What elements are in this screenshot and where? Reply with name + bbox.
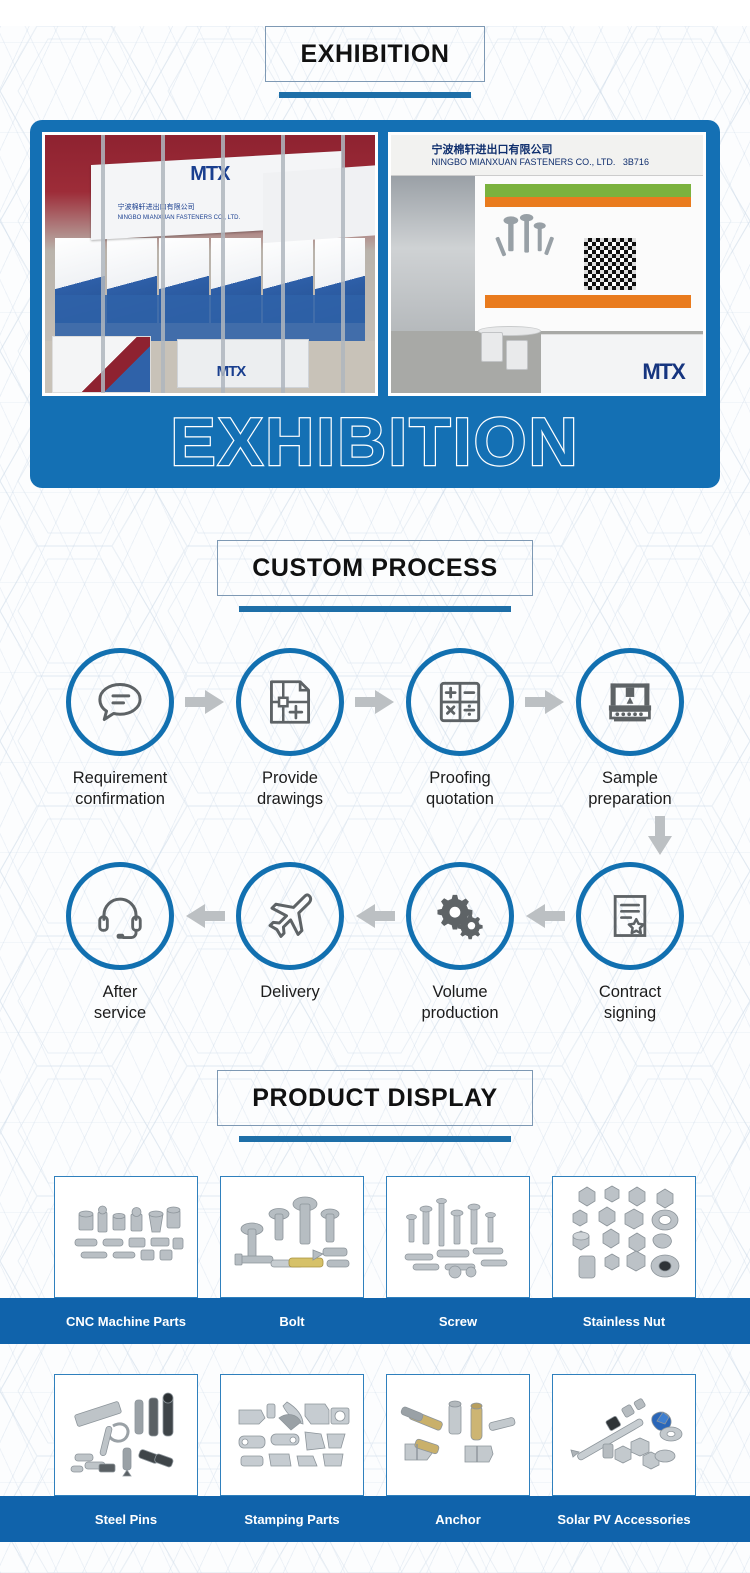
process-arrow-2 [352,648,398,756]
product-card-cnc-machine-parts[interactable]: CNC Machine Parts [54,1176,198,1344]
product-image-frame [386,1374,530,1496]
product-image-frame [54,1176,198,1298]
product-card-anchor[interactable]: Anchor [386,1374,530,1542]
step-label: Sample preparation [588,768,671,810]
stainless-nut-photo [559,1184,689,1290]
page-title: EXHIBITION [300,40,449,69]
exhibition-booth-photo-1[interactable]: MTX 宁波棉轩进出口有限公司 NINGBO MIANXUAN FASTENER… [42,132,378,396]
step-circle [236,648,344,756]
product-image-frame [552,1176,696,1298]
process-step-requirement-confirmation[interactable]: Requirement confirmation [58,648,182,810]
process-step-proofing-quotation[interactable]: Proofing quotation [398,648,522,810]
photo1-booth-framework [45,135,375,393]
product-image-frame [552,1374,696,1496]
process-step-volume-production[interactable]: Volume production [398,862,522,1024]
product-card-steel-pins[interactable]: Steel Pins [54,1374,198,1542]
photo2-qr-code [584,238,636,290]
product-label: Stainless Nut [552,1298,696,1344]
photo2-company-en: NINGBO MIANXUAN FASTENERS CO., LTD. 3B71… [432,157,649,167]
photo2-orange-stripe-2 [485,295,691,308]
section-title: CUSTOM PROCESS [252,554,497,583]
arrow-left-icon [355,903,395,929]
airplane-icon [262,888,318,944]
product-row-1-tiles: CNC Machine Parts [0,1176,750,1344]
exhibition-photo-gallery: MTX 宁波棉轩进出口有限公司 NINGBO MIANXUAN FASTENER… [42,132,708,396]
bolt-photo [227,1184,357,1290]
process-step-after-service[interactable]: After service [58,862,182,1024]
exhibition-section-heading: EXHIBITION [0,26,750,98]
heading-box: PRODUCT DISPLAY [217,1070,533,1126]
step-label: Delivery [260,982,320,1003]
product-image-frame [220,1176,364,1298]
step-label: Proofing quotation [426,768,494,810]
process-arrow-5 [352,862,398,970]
product-label: Stamping Parts [220,1496,364,1542]
product-row-2-tiles: Steel Pins [0,1374,750,1542]
arrow-left-icon [185,903,225,929]
step-circle [576,862,684,970]
exhibition-banner-title: EXHIBITION [42,396,708,488]
product-card-bolt[interactable]: Bolt [220,1176,364,1344]
process-arrow-4 [182,862,228,970]
heading-rule [239,606,511,612]
product-card-solar-pv-accessories[interactable]: Solar PV Accessories [552,1374,696,1542]
process-step-sample-preparation[interactable]: Sample preparation [568,648,692,810]
product-display-grid: CNC Machine Parts [0,1176,750,1542]
product-card-stainless-nut[interactable]: Stainless Nut [552,1176,696,1344]
screw-photo [393,1184,523,1290]
arrow-right-icon [185,689,225,715]
calculator-icon [434,676,486,728]
heading-box: CUSTOM PROCESS [217,540,532,596]
photo2-bolt-poster-art [494,207,563,274]
product-card-stamping-parts[interactable]: Stamping Parts [220,1374,364,1542]
cnc-machine-icon [602,675,658,729]
arrow-right-icon [525,689,565,715]
step-circle [66,862,174,970]
step-circle [66,648,174,756]
heading-rule [279,92,471,98]
heading-rule [239,1136,511,1142]
stamping-parts-photo [227,1382,357,1488]
gears-icon [431,889,489,943]
step-label: Provide drawings [257,768,323,810]
product-display-section-heading: PRODUCT DISPLAY [0,1070,750,1142]
custom-process-flow: Requirement confirmation [25,648,725,1024]
blueprint-icon [263,675,317,729]
product-label: Steel Pins [54,1496,198,1542]
arrow-left-icon [525,903,565,929]
process-row-1: Requirement confirmation [25,648,725,810]
arrow-right-icon [355,689,395,715]
custom-process-section-heading: CUSTOM PROCESS [0,540,750,612]
product-row-1: CNC Machine Parts [0,1176,750,1344]
step-circle [236,862,344,970]
photo2-chair-1 [481,332,503,362]
product-label: Screw [386,1298,530,1344]
product-label: Solar PV Accessories [552,1496,696,1542]
process-arrow-3 [522,648,568,756]
heading-box: EXHIBITION [265,26,484,82]
step-label: After service [94,982,146,1024]
headset-icon [93,889,147,943]
process-row-2: After service Delivery [25,862,725,1024]
photo2-chair-2 [506,340,528,370]
exhibition-booth-photo-2[interactable]: MTX 宁波棉轩进出口有限公司 NINGBO MIANXUAN FASTENER… [388,132,706,396]
step-circle [576,648,684,756]
photo2-green-stripe [485,184,691,197]
step-circle [406,648,514,756]
step-label: Volume production [421,982,498,1024]
process-step-contract-signing[interactable]: Contract signing [568,862,692,1024]
photo2-company-cn: 宁波棉轩进出口有限公司 [432,141,553,157]
process-arrow-1 [182,648,228,756]
product-image-frame [54,1374,198,1496]
photo2-left-wall [391,176,475,357]
certificate-icon [605,889,655,943]
arrow-down-icon [647,816,673,856]
process-arrow-6 [522,862,568,970]
solar-pv-accessories-photo [559,1382,689,1488]
section-title: PRODUCT DISPLAY [252,1084,498,1113]
process-arrow-down-wrap [25,816,725,856]
product-card-screw[interactable]: Screw [386,1176,530,1344]
anchor-photo [393,1382,523,1488]
product-rows-gap [0,1344,750,1374]
process-step-provide-drawings[interactable]: Provide drawings [228,648,352,810]
photo2-counter-logo: MTX [642,359,684,385]
step-circle [406,862,514,970]
product-row-2: Steel Pins [0,1374,750,1542]
product-label: CNC Machine Parts [54,1298,198,1344]
step-label: Requirement confirmation [73,768,167,810]
step-label: Contract signing [599,982,661,1024]
steel-pins-photo [61,1382,191,1488]
cnc-machine-parts-photo [61,1184,191,1290]
speech-bubble-icon [92,674,148,730]
product-image-frame [386,1176,530,1298]
product-label: Anchor [386,1496,530,1542]
process-step-delivery[interactable]: Delivery [228,862,352,1003]
product-label: Bolt [220,1298,364,1344]
product-image-frame [220,1374,364,1496]
exhibition-banner: MTX 宁波棉轩进出口有限公司 NINGBO MIANXUAN FASTENER… [30,120,720,488]
exhibition-banner-word: EXHIBITION [170,408,579,476]
